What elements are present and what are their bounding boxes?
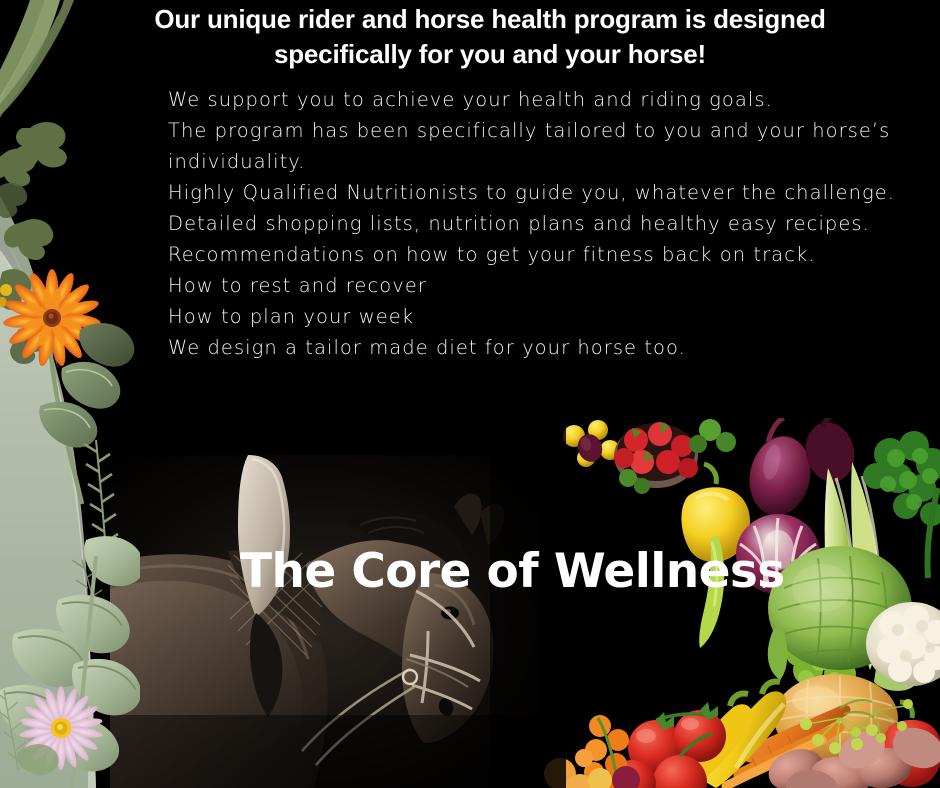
botanical-border-illustration	[0, 0, 140, 788]
horse-and-rider-illustration	[110, 455, 550, 788]
fresh-vegetables-photo	[540, 418, 940, 788]
benefit-line: We support you to achieve your health an…	[168, 84, 920, 115]
benefit-line: How to plan your week	[168, 301, 920, 332]
benefit-line: Highly Qualified Nutritionists to guide …	[168, 177, 920, 208]
program-benefits-list: We support you to achieve your health an…	[168, 84, 920, 363]
benefit-line: Detailed shopping lists, nutrition plans…	[168, 208, 920, 239]
vegetable-arrangement-illustration	[540, 418, 940, 788]
poster-canvas: Our unique rider and horse health progra…	[0, 0, 940, 788]
benefit-line: We design a tailor made diet for your ho…	[168, 332, 920, 363]
benefit-line: How to rest and recover	[168, 270, 920, 301]
benefit-line: The program has been specifically tailor…	[168, 115, 920, 177]
left-botanical-border	[0, 0, 140, 788]
benefit-line: Recommendations on how to get your fitne…	[168, 239, 920, 270]
page-headline: Our unique rider and horse health progra…	[90, 2, 890, 71]
dressage-horse-photo	[110, 455, 550, 788]
brand-title: The Core of Wellness	[240, 548, 785, 595]
